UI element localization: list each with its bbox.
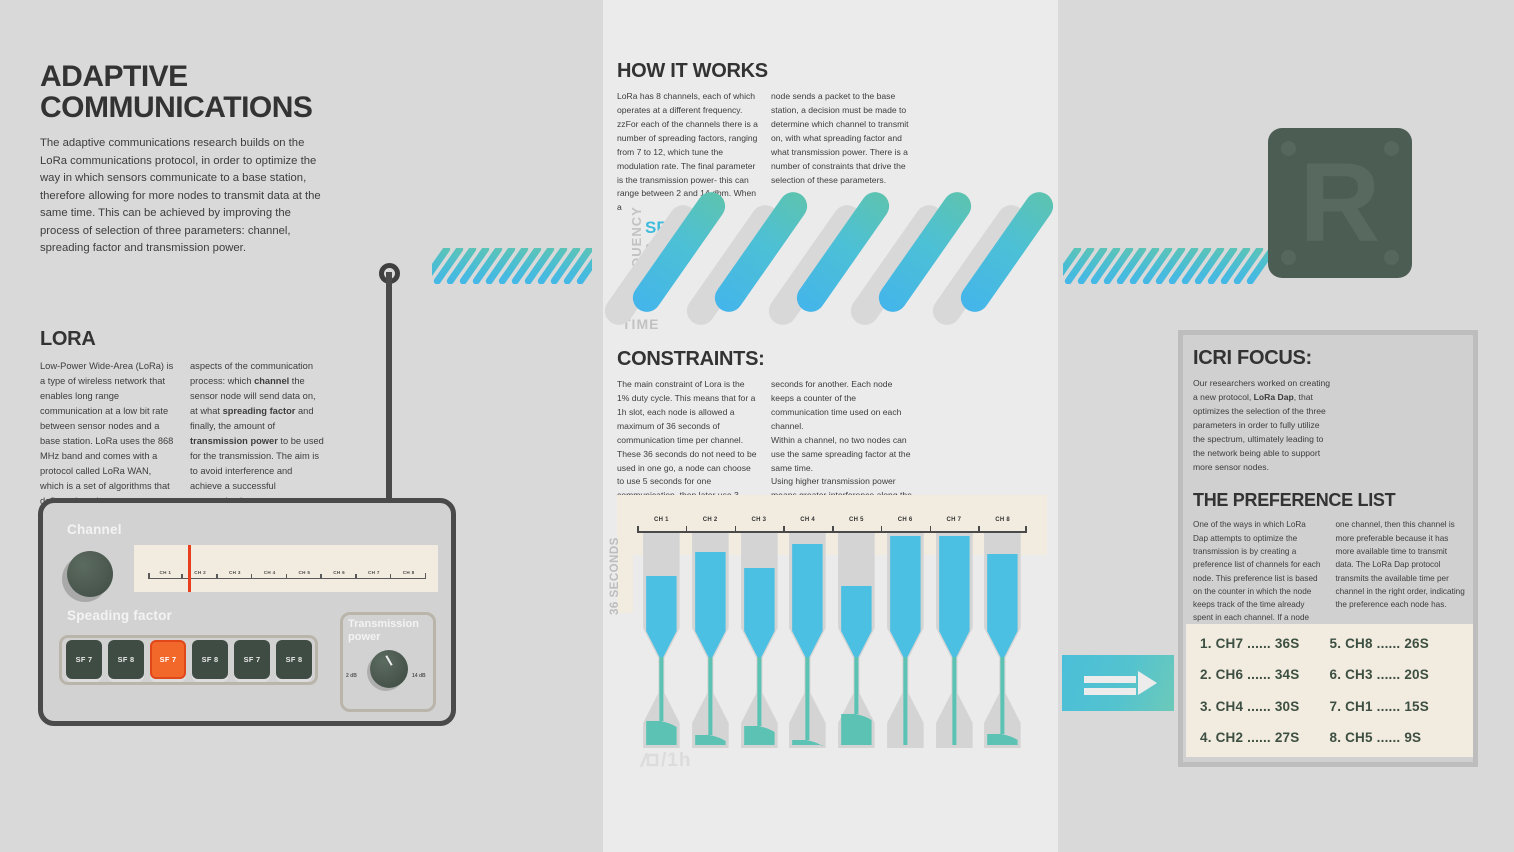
signal-stripes-left [432,248,592,284]
chart-tick [930,526,932,532]
preference-list-item: 5. CH8 ...... 26S [1330,636,1460,651]
chart-category-label: CH 1 [637,517,686,527]
icri-heading: ICRI FOCUS: [1193,347,1465,370]
chart-category-label: CH 5 [832,517,881,527]
preference-list: 1. CH7 ...... 36S5. CH8 ...... 26S2. CH6… [1186,624,1473,757]
chart-tick [978,526,980,532]
constraints-section: CONSTRAINTS: The main constraint of Lora… [617,348,912,517]
sf-key[interactable]: SF 7 [66,640,102,679]
page-title: ADAPTIVE COMMUNICATIONS [40,62,370,123]
lora-column-1: Low-Power Wide-Area (LoRa) is a type of … [40,359,175,509]
channel-tick: CH 1 [148,570,183,578]
chart-category-label: CH 3 [735,517,784,527]
channel-usage-chart: 36 SECONDS CH 1CH 2CH 3CH 4CH 5CH 6CH 7C… [617,495,1047,775]
lora-column-2: aspects of the communication process: wh… [190,359,325,509]
sf-key[interactable]: SF 8 [192,640,228,679]
channel-label: Channel [67,522,122,537]
chart-column [930,533,979,748]
arrow-triangle-icon [1138,671,1157,695]
preference-column-2: one channel, then this channel is more p… [1336,518,1466,638]
preference-list-item: 6. CH3 ...... 20S [1330,667,1460,682]
lora-heading: LORA [40,328,330,351]
signal-stripes-right [1063,248,1268,284]
chart-category-label: CH 6 [881,517,930,527]
transmit-arrow-button[interactable] [1062,655,1174,711]
chart-tick [1025,526,1027,532]
chart-column [637,533,686,748]
preference-list-item: 2. CH6 ...... 34S [1200,667,1330,682]
sf-key[interactable]: SF 8 [108,640,144,679]
chart-column [832,533,881,748]
channel-needle[interactable] [188,545,191,592]
preference-list-item: 3. CH4 ...... 30S [1200,699,1330,714]
hourglass-icon [639,751,661,769]
how-it-works-heading: HOW IT WORKS [617,60,912,83]
chart-tick [637,526,639,532]
transmission-power-label: Transmission power [348,618,428,643]
channel-tick: CH 6 [322,570,357,578]
chart-column [978,533,1027,748]
preference-list-heading: THE PREFERENCE LIST [1193,490,1465,511]
chirp-diagram: FREQUENCY TIME SF 7 SF 8 [617,200,1057,340]
transmission-power-knob[interactable] [370,650,408,688]
channel-tick: CH 5 [287,570,322,578]
sf-key-group: SF 7SF 8SF 7SF 8SF 7SF 8 [66,640,312,679]
arrow-bar-bottom [1084,688,1136,695]
icri-body: Our researchers worked on creating a new… [1193,377,1333,474]
chart-tick [735,526,737,532]
tx-min-label: 2 dB [346,673,357,679]
chart-column [783,533,832,748]
chart-column [686,533,735,748]
channel-tick: CH 7 [357,570,392,578]
chart-category-label: CH 7 [930,517,979,527]
constraints-heading: CONSTRAINTS: [617,348,912,371]
preference-column-1: One of the ways in which LoRa Dap attemp… [1193,518,1323,638]
chart-plot-area [637,533,1027,748]
spreading-factor-label: Speading factor [67,608,172,623]
receiver-chip: R [1268,128,1412,278]
sf-key[interactable]: SF 8 [276,640,312,679]
tx-max-label: 14 dB [412,673,426,679]
chart-tick [832,526,834,532]
channel-knob[interactable] [67,551,113,597]
lora-section: LORA Low-Power Wide-Area (LoRa) is a typ… [40,328,330,509]
channel-tick: CH 3 [218,570,253,578]
chart-category-label: CH 2 [686,517,735,527]
how-it-works-section: HOW IT WORKS LoRa has 8 channels, each o… [617,60,912,215]
chart-tick [881,526,883,532]
intro-paragraph: The adaptive communications research bui… [40,135,325,258]
preference-list-item: 1. CH7 ...... 36S [1200,636,1330,651]
chart-column [735,533,784,748]
chart-column [881,533,930,748]
preference-list-item: 8. CH5 ...... 9S [1330,730,1460,745]
channel-scale[interactable]: CH 1CH 2CH 3CH 4CH 5CH 6CH 7CH 8 [134,545,438,592]
icri-content: ICRI FOCUS: Our researchers worked on cr… [1193,347,1465,638]
preference-list-item: 4. CH2 ...... 27S [1200,730,1330,745]
antenna-pole [386,272,392,504]
chip-letter: R [1268,128,1412,278]
channel-tick: CH 4 [252,570,287,578]
how-it-works-column-1: LoRa has 8 channels, each of which opera… [617,90,758,215]
sf-key[interactable]: SF 7 [150,640,186,679]
chart-tick [686,526,688,532]
chart-category-label: CH 8 [978,517,1027,527]
sf-key[interactable]: SF 7 [234,640,270,679]
channel-tick: CH 8 [391,570,426,578]
preference-list-item: 7. CH1 ...... 15S [1330,699,1460,714]
chart-y-axis-label: 36 SECONDS [609,537,621,615]
chart-tick [783,526,785,532]
chart-category-label: CH 4 [783,517,832,527]
arrow-bar-top [1084,676,1136,683]
chart-x-axis-label: /1h [639,750,691,772]
